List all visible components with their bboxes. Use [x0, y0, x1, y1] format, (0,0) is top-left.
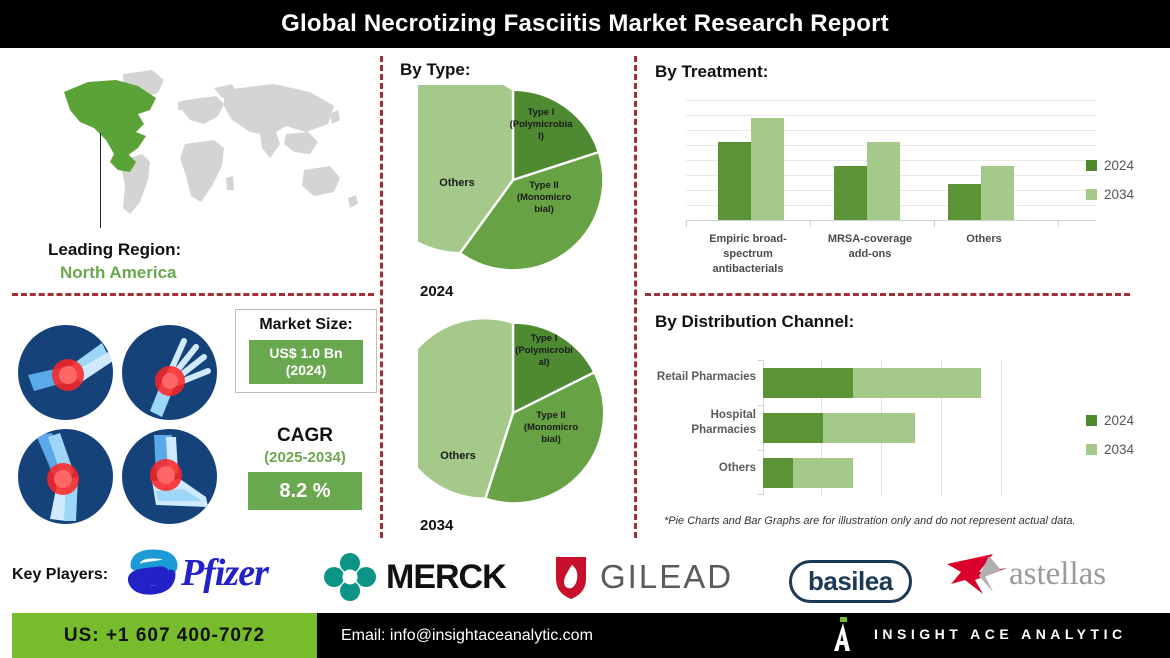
distribution-category-others: Others	[638, 461, 756, 476]
footer-phone: US: +1 607 400-7072	[64, 625, 265, 647]
legend-swatch-2034-dist	[1086, 444, 1097, 455]
merck-wordmark: MERCK	[386, 558, 506, 597]
logo-basilea: basilea	[789, 560, 912, 603]
basilea-pill: basilea	[789, 560, 912, 603]
treatment-bar-2024-mrsa	[834, 166, 867, 220]
leading-region-value: North America	[60, 263, 177, 283]
distribution-bar-2024-hospital	[763, 413, 823, 443]
logo-astellas: astellas	[945, 550, 1106, 598]
footer-info-block: Email: info@insightaceanalytic.com INSIG…	[317, 613, 1170, 658]
market-size-value: US$ 1.0 Bn	[269, 345, 342, 363]
divider-vertical-left	[380, 56, 383, 538]
legend-item-2034-dist: 2034	[1086, 442, 1134, 457]
joint-pain-illustrations	[18, 325, 218, 525]
distribution-bar-2024-others	[763, 458, 793, 488]
cagr-value-chip: 8.2 %	[248, 472, 362, 510]
legend-swatch-2034	[1086, 189, 1097, 200]
market-size-chip: US$ 1.0 Bn (2024)	[249, 340, 363, 384]
treatment-bar-2024-others	[948, 184, 981, 220]
by-treatment-title: By Treatment:	[655, 62, 768, 82]
legend-swatch-2024	[1086, 160, 1097, 171]
legend-item-2034: 2034	[1086, 187, 1134, 202]
logo-gilead: GILEAD	[552, 553, 733, 601]
footer-brand: INSIGHT ACE ANALYTIC	[832, 617, 1127, 651]
distribution-bar-2034-hospital	[823, 413, 915, 443]
logo-merck: MERCK	[322, 553, 506, 601]
treatment-category-mrsa: MRSA-coverage add-ons	[812, 232, 928, 262]
pie-2024-year: 2024	[420, 283, 453, 300]
legend-label-2034-dist: 2034	[1104, 442, 1134, 457]
astellas-mark-icon	[945, 550, 1015, 598]
footer-email: Email: info@insightaceanalytic.com	[341, 627, 593, 645]
cagr-range: (2025-2034)	[235, 449, 375, 466]
elbow-joint-pain-icon	[18, 325, 113, 420]
pfizer-mark-icon	[125, 548, 181, 598]
footer-bar: US: +1 607 400-7072 Email: info@insighta…	[0, 613, 1170, 658]
distribution-chart-legend: 2024 2034	[1086, 413, 1134, 471]
legend-label-2034: 2034	[1104, 187, 1134, 202]
treatment-bar-2034-empiric	[751, 118, 784, 220]
divider-vertical-right	[634, 56, 637, 538]
distribution-bar-2034-retail	[853, 368, 981, 398]
legend-item-2024: 2024	[1086, 158, 1134, 173]
divider-horizontal-right	[645, 293, 1130, 296]
legend-label-2024-dist: 2024	[1104, 413, 1134, 428]
leading-region-label: Leading Region:	[48, 240, 181, 260]
header-bar: Global Necrotizing Fasciitis Market Rese…	[0, 0, 1170, 48]
basilea-wordmark: basilea	[808, 566, 893, 596]
pie-chart-2024	[418, 85, 608, 275]
treatment-bar-2034-mrsa	[867, 142, 900, 220]
merck-mark-icon	[322, 553, 378, 601]
market-size-year: (2024)	[286, 362, 326, 380]
divider-horizontal-left	[12, 293, 374, 296]
gilead-wordmark: GILEAD	[600, 558, 733, 596]
knee-joint-pain-icon	[18, 429, 113, 524]
infographic-page: Global Necrotizing Fasciitis Market Rese…	[0, 0, 1170, 658]
cagr-title: CAGR	[235, 425, 375, 447]
treatment-bar-2024-empiric	[718, 142, 751, 220]
treatment-category-others: Others	[932, 232, 1036, 247]
astellas-wordmark: astellas	[1009, 556, 1106, 593]
distribution-bar-chart	[763, 360, 1026, 495]
footer-brand-name: INSIGHT ACE ANALYTIC	[874, 626, 1127, 642]
treatment-bar-2034-others	[981, 166, 1014, 220]
distribution-category-hospital: Hospital Pharmacies	[638, 408, 756, 438]
ankle-joint-pain-icon	[122, 429, 217, 524]
footer-phone-block: US: +1 607 400-7072	[12, 613, 317, 658]
treatment-category-empiric: Empiric broad- spectrum antibacterials	[690, 232, 806, 277]
logo-pfizer: Pfizer	[125, 548, 268, 598]
hand-joint-pain-icon	[122, 325, 217, 420]
legend-label-2024: 2024	[1104, 158, 1134, 173]
by-distribution-title: By Distribution Channel:	[655, 312, 854, 332]
distribution-category-retail: Retail Pharmacies	[638, 370, 756, 385]
chart-disclaimer: *Pie Charts and Bar Graphs are for illus…	[664, 515, 1134, 527]
pie-chart-2034	[418, 318, 608, 508]
by-type-title: By Type:	[400, 60, 471, 80]
market-size-title: Market Size:	[236, 316, 376, 334]
insight-ace-a-logo-icon	[832, 617, 856, 651]
pfizer-wordmark: Pfizer	[181, 551, 268, 595]
map-pointer-line	[100, 133, 101, 228]
legend-item-2024-dist: 2024	[1086, 413, 1134, 428]
gilead-mark-icon	[552, 553, 590, 601]
key-players-label: Key Players:	[12, 566, 108, 584]
page-title: Global Necrotizing Fasciitis Market Rese…	[281, 10, 889, 38]
legend-swatch-2024-dist	[1086, 415, 1097, 426]
world-map-icon	[18, 62, 370, 237]
pie-2034-year: 2034	[420, 517, 453, 534]
distribution-bar-2024-retail	[763, 368, 853, 398]
market-size-card: Market Size: US$ 1.0 Bn (2024)	[235, 309, 377, 393]
treatment-chart-legend: 2024 2034	[1086, 158, 1134, 216]
treatment-bar-chart	[686, 100, 1096, 230]
distribution-bar-2034-others	[793, 458, 853, 488]
